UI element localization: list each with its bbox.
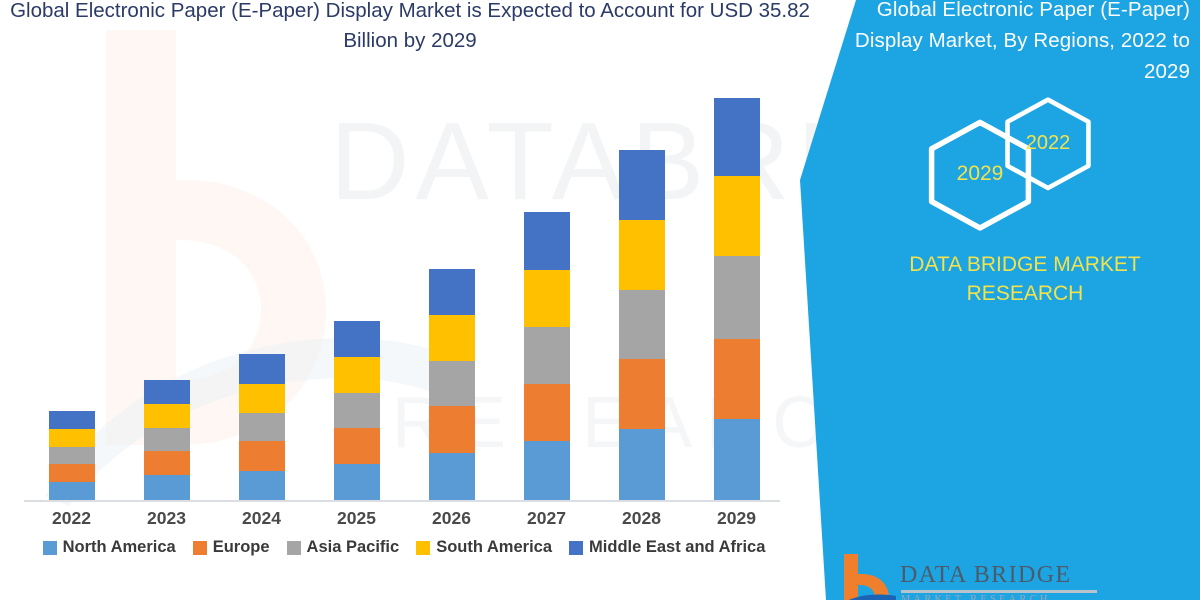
bar-stack[interactable] [334,321,380,500]
bar-segment-south-america[interactable] [239,384,285,413]
bar-segment-north-america[interactable] [714,419,760,500]
bar-segment-middle-east-and-africa[interactable] [714,98,760,176]
bar-stack[interactable] [239,354,285,500]
bar-segment-south-america[interactable] [144,404,190,428]
bar-segment-europe[interactable] [239,441,285,470]
bar-segment-asia-pacific[interactable] [334,393,380,428]
legend-swatch-icon [43,541,57,555]
x-axis-label-2025: 2025 [309,508,404,529]
bar-segment-south-america[interactable] [524,270,570,328]
bar-segment-middle-east-and-africa[interactable] [49,411,95,429]
bar-segment-middle-east-and-africa[interactable] [144,380,190,404]
bar-segment-north-america[interactable] [524,441,570,500]
bar-stack[interactable] [714,98,760,500]
bar-segment-middle-east-and-africa[interactable] [524,212,570,270]
logo-wordmark: DATA BRIDGE [900,562,1071,589]
x-axis-label-2028: 2028 [594,508,689,529]
legend-label: South America [436,538,552,557]
legend-swatch-icon [193,541,207,555]
bar-segment-europe[interactable] [619,359,665,429]
chart-plot-area [24,88,784,502]
bar-stack[interactable] [429,269,475,500]
bar-stack[interactable] [49,411,95,500]
hexagon-label-2029: 2029 [957,162,1004,186]
bar-segment-north-america[interactable] [334,464,380,500]
bar-segment-europe[interactable] [144,451,190,475]
bar-column-2026[interactable] [404,88,499,500]
bar-segment-north-america[interactable] [619,429,665,500]
x-axis-label-2026: 2026 [404,508,499,529]
bar-stack[interactable] [524,212,570,500]
bar-segment-europe[interactable] [334,428,380,464]
legend-label: Middle East and Africa [589,538,765,557]
x-axis-label-2027: 2027 [499,508,594,529]
legend-swatch-icon [287,541,301,555]
bar-segment-south-america[interactable] [619,220,665,290]
bar-stack[interactable] [619,150,665,500]
legend-item-asia-pacific[interactable]: Asia Pacific [287,538,400,557]
bar-column-2029[interactable] [689,88,784,500]
bar-segment-north-america[interactable] [429,453,475,500]
bar-segment-asia-pacific[interactable] [239,413,285,441]
b-logo-icon [838,552,896,600]
bar-segment-europe[interactable] [714,339,760,419]
bar-segment-north-america[interactable] [144,475,190,500]
bar-segment-asia-pacific[interactable] [429,361,475,406]
legend-label: Europe [213,538,270,557]
bar-column-2022[interactable] [24,88,119,500]
x-axis-label-2022: 2022 [24,508,119,529]
legend-item-south-america[interactable]: South America [416,538,552,557]
hexagon-label-2022: 2022 [1026,132,1071,155]
legend-item-europe[interactable]: Europe [193,538,270,557]
bar-column-2027[interactable] [499,88,594,500]
panel-title: Global Electronic Paper (E-Paper) Displa… [830,0,1190,87]
brand-name: DATA BRIDGE MARKET RESEARCH [860,250,1190,308]
bar-segment-south-america[interactable] [714,176,760,256]
bar-segment-asia-pacific[interactable] [49,447,95,464]
x-axis-label-2023: 2023 [119,508,214,529]
bar-segment-middle-east-and-africa[interactable] [429,269,475,315]
legend-label: Asia Pacific [307,538,400,557]
legend-label: North America [63,538,176,557]
bar-series-container [24,88,784,500]
bar-stack[interactable] [144,380,190,500]
bar-segment-asia-pacific[interactable] [524,327,570,383]
legend-swatch-icon [416,541,430,555]
bar-segment-europe[interactable] [49,464,95,482]
logo-divider [901,590,1097,593]
legend-item-middle-east-and-africa[interactable]: Middle East and Africa [569,538,765,557]
bar-segment-south-america[interactable] [49,429,95,447]
x-axis-labels: 20222023202420252026202720282029 [24,508,784,529]
bar-segment-middle-east-and-africa[interactable] [334,321,380,357]
legend-swatch-icon [569,541,583,555]
bar-column-2024[interactable] [214,88,309,500]
bar-segment-middle-east-and-africa[interactable] [619,150,665,220]
bar-segment-asia-pacific[interactable] [714,256,760,338]
bar-segment-middle-east-and-africa[interactable] [239,354,285,383]
bar-column-2023[interactable] [119,88,214,500]
logo-subtitle: MARKET RESEARCH [901,594,1051,600]
page-title: Global Electronic Paper (E-Paper) Displa… [10,0,810,56]
bar-segment-north-america[interactable] [239,471,285,500]
hexagon-badges: 2029 2022 [925,96,1125,231]
infographic-root: DATABRIDGE RESEARCH Global Electronic Pa… [0,0,1200,600]
bar-column-2025[interactable] [309,88,404,500]
bar-segment-south-america[interactable] [334,357,380,393]
bar-segment-asia-pacific[interactable] [144,428,190,452]
bar-column-2028[interactable] [594,88,689,500]
x-axis-label-2029: 2029 [689,508,784,529]
chart-legend: North AmericaEuropeAsia PacificSouth Ame… [24,538,784,557]
dbmr-logo: DATA BRIDGE MARKET RESEARCH [838,552,1168,600]
bar-segment-europe[interactable] [524,384,570,442]
legend-item-north-america[interactable]: North America [43,538,176,557]
bar-segment-north-america[interactable] [49,482,95,500]
bar-segment-europe[interactable] [429,406,475,452]
bar-segment-asia-pacific[interactable] [619,290,665,359]
x-axis-line [24,500,780,502]
x-axis-label-2024: 2024 [214,508,309,529]
bar-segment-south-america[interactable] [429,315,475,361]
hexagon-badge-2022: 2022 [1002,96,1094,190]
